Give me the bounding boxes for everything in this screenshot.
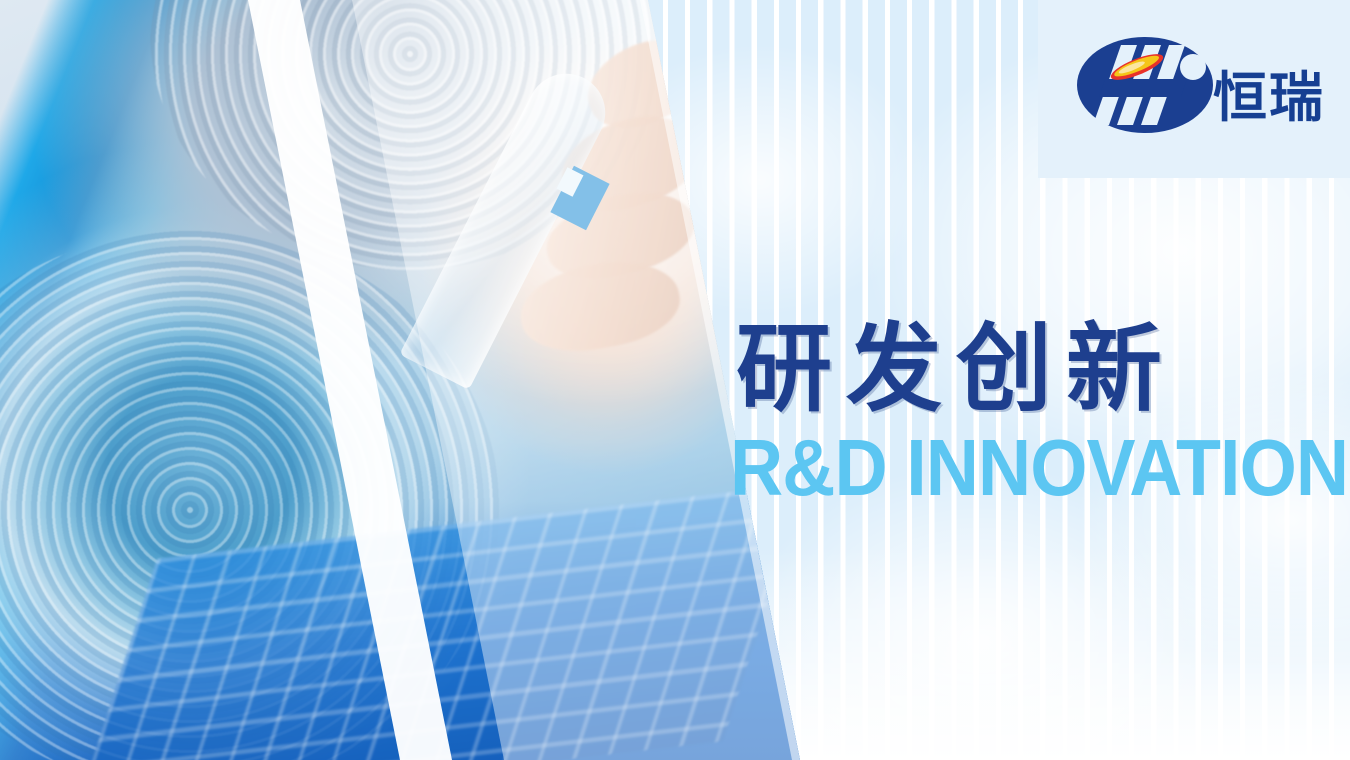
logo-inner: 恒瑞	[1075, 27, 1325, 143]
page-title-chinese: 研发创新	[736, 322, 1336, 418]
hengrui-logo-icon	[1075, 27, 1215, 143]
logo-panel[interactable]: 恒瑞	[1038, 0, 1350, 178]
rd-innovation-banner: 研发创新 R&D INNOVATION	[0, 0, 1350, 760]
page-title-english: R&D INNOVATION	[730, 428, 1288, 508]
headline-block: 研发创新 R&D INNOVATION	[736, 322, 1336, 508]
logo-wordmark: 恒瑞	[1213, 71, 1325, 125]
